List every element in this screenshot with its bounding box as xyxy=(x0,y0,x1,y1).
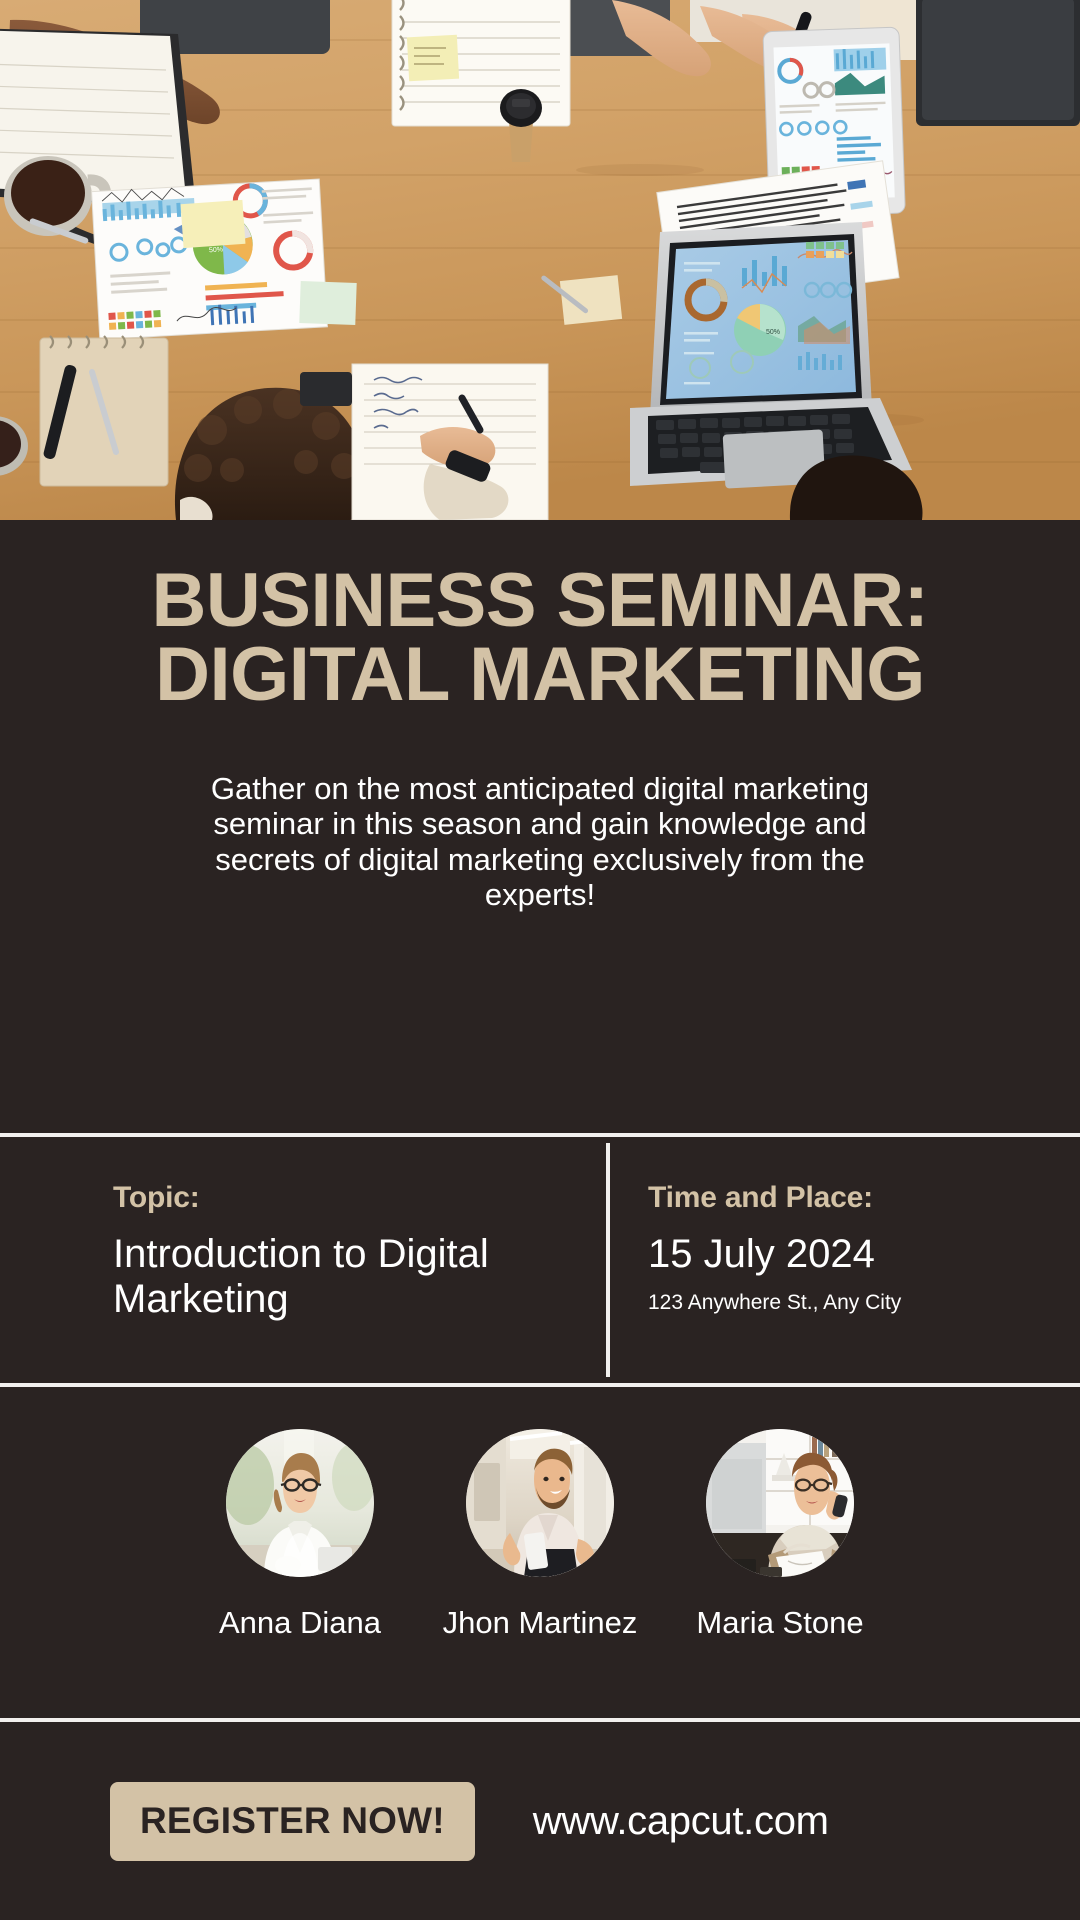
avatar xyxy=(706,1429,854,1577)
svg-text:50%: 50% xyxy=(766,329,780,336)
event-date: 15 July 2024 xyxy=(648,1232,1040,1277)
website-url: www.capcut.com xyxy=(533,1799,829,1844)
event-address: 123 Anywhere St., Any City xyxy=(648,1291,1040,1315)
portrait-jhon-martinez xyxy=(466,1429,614,1577)
speaker-card: Jhon Martinez xyxy=(442,1429,638,1641)
speaker-card: Anna Diana xyxy=(202,1429,398,1641)
svg-text:50%: 50% xyxy=(209,246,223,254)
info-column-topic: Topic: Introduction to Digital Marketing xyxy=(0,1137,608,1383)
register-now-button[interactable]: REGISTER NOW! xyxy=(110,1782,475,1861)
speaker-card: Maria Stone xyxy=(682,1429,878,1641)
spiral-notebook-center xyxy=(392,0,570,126)
title-line-1: Business Seminar: xyxy=(152,558,929,643)
sticky-note-yellow xyxy=(181,200,246,248)
speaker-name: Jhon Martinez xyxy=(442,1605,638,1641)
phone-device xyxy=(300,372,352,406)
seminar-poster: 50% xyxy=(0,0,1080,1920)
avatar xyxy=(226,1429,374,1577)
title-line-2: Digital Marketing xyxy=(60,638,1020,712)
portrait-maria-stone xyxy=(706,1429,854,1577)
portrait-anna-diana xyxy=(226,1429,374,1577)
speakers-row: Anna Diana xyxy=(0,1387,1080,1718)
topic-label: Topic: xyxy=(113,1181,568,1215)
time-place-label: Time and Place: xyxy=(648,1181,1040,1215)
info-column-time-place: Time and Place: 15 July 2024 123 Anywher… xyxy=(608,1137,1080,1383)
intro-paragraph: Gather on the most anticipated digital m… xyxy=(190,771,890,912)
topic-value: Introduction to Digital Marketing xyxy=(113,1232,568,1322)
info-row: Topic: Introduction to Digital Marketing… xyxy=(0,1137,1080,1383)
page-title: Business Seminar: Digital Marketing xyxy=(0,564,1080,713)
speaker-name: Anna Diana xyxy=(202,1605,398,1641)
headline-block: Business Seminar: Digital Marketing Gath… xyxy=(0,520,1080,912)
avatar xyxy=(466,1429,614,1577)
hero-photo: 50% xyxy=(0,0,1080,520)
hero-illustration: 50% xyxy=(0,0,1080,520)
sticky-note-green xyxy=(299,281,356,325)
speaker-name: Maria Stone xyxy=(682,1605,878,1641)
spiral-notebook-bottom-left xyxy=(40,336,168,486)
footer: REGISTER NOW! www.capcut.com xyxy=(0,1722,1080,1920)
